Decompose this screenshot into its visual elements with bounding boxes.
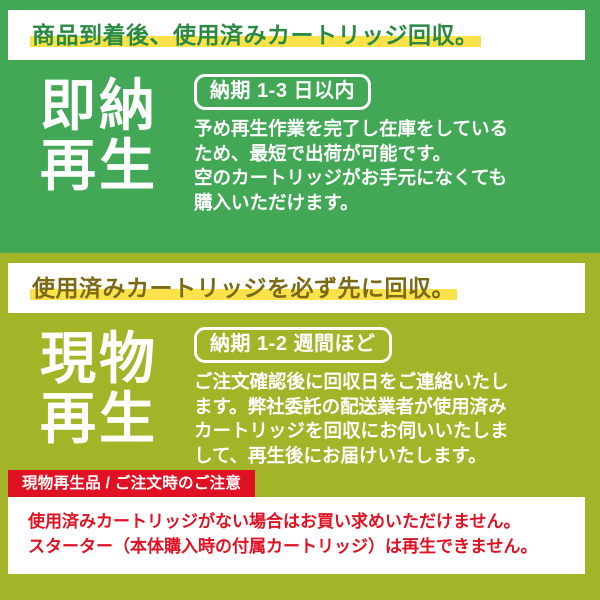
section-body-immediate: 即納 再生 納期 1-3 日以内 予め再生作業を完了し在庫をしている ため、最短… (8, 60, 585, 215)
description-physical-line-1: ご注文確認後に回収日をご連絡いたし (194, 370, 579, 395)
recycling-options-infographic: 商品到着後、使用済みカートリッジ回収。 即納 再生 納期 1-3 日以内 予め再… (0, 0, 600, 600)
section-header-title-physical-text: 使用済みカートリッジを必ず先に回収。 (32, 275, 455, 301)
description-immediate-line-4: 購入いただけます。 (194, 191, 579, 216)
caution-text-line-1: 使用済みカートリッジがない場合はお買い求めいただけません。 (28, 510, 585, 535)
section-header-title-immediate-text: 商品到着後、使用済みカートリッジ回収。 (32, 22, 479, 48)
description-immediate-line-1: 予め再生作業を完了し在庫をしている (194, 117, 579, 142)
description-physical-line-3: カートリッジを回収にお伺いいたしま (194, 419, 579, 444)
section-physical-recycle: 使用済みカートリッジを必ず先に回収。 現物 再生 納期 1-2 週間ほど ご注文… (0, 253, 600, 600)
section-body-physical: 現物 再生 納期 1-2 週間ほど ご注文確認後に回収日をご連絡いたし ます。弊… (8, 313, 585, 468)
section-immediate-restock: 商品到着後、使用済みカートリッジ回収。 即納 再生 納期 1-3 日以内 予め再… (0, 0, 600, 253)
lead-time-badge-immediate: 納期 1-3 日以内 (194, 74, 371, 110)
section-header-band-physical: 使用済みカートリッジを必ず先に回収。 (8, 263, 585, 313)
big-label-immediate-line-1: 即納 (8, 76, 190, 136)
section-header-title-immediate: 商品到着後、使用済みカートリッジ回収。 (30, 22, 481, 48)
caution-label: 現物再生品 / ご注文時のご注意 (8, 470, 255, 497)
big-label-immediate: 即納 再生 (8, 74, 190, 196)
caution-box: 使用済みカートリッジがない場合はお買い求めいただけません。 スターター（本体購入… (8, 497, 585, 573)
description-physical-line-2: ます。弊社委託の配送業者が使用済み (194, 395, 579, 420)
big-label-physical: 現物 再生 (8, 327, 190, 449)
caution-text: 使用済みカートリッジがない場合はお買い求めいただけません。 スターター（本体購入… (28, 510, 585, 559)
big-label-physical-line-2: 再生 (8, 389, 190, 449)
detail-column-immediate: 納期 1-3 日以内 予め再生作業を完了し在庫をしている ため、最短で出荷が可能… (190, 74, 585, 215)
section-header-title-physical: 使用済みカートリッジを必ず先に回収。 (30, 275, 457, 301)
caution-block: 現物再生品 / ご注文時のご注意 使用済みカートリッジがない場合はお買い求めいた… (8, 468, 585, 573)
big-label-immediate-line-2: 再生 (8, 136, 190, 196)
lead-time-badge-physical: 納期 1-2 週間ほど (194, 327, 392, 363)
description-immediate-line-3: 空のカートリッジがお手元になくても (194, 166, 579, 191)
description-physical-line-4: して、再生後にお届けいたします。 (194, 444, 579, 469)
description-immediate: 予め再生作業を完了し在庫をしている ため、最短で出荷が可能です。 空のカートリッ… (194, 117, 579, 215)
description-physical: ご注文確認後に回収日をご連絡いたし ます。弊社委託の配送業者が使用済み カートリ… (194, 370, 579, 468)
description-immediate-line-2: ため、最短で出荷が可能です。 (194, 142, 579, 167)
detail-column-physical: 納期 1-2 週間ほど ご注文確認後に回収日をご連絡いたし ます。弊社委託の配送… (190, 327, 585, 468)
big-label-physical-line-1: 現物 (8, 329, 190, 389)
section-header-band-immediate: 商品到着後、使用済みカートリッジ回収。 (8, 10, 585, 60)
caution-text-line-2: スターター（本体購入時の付属カートリッジ）は再生できません。 (28, 535, 585, 560)
